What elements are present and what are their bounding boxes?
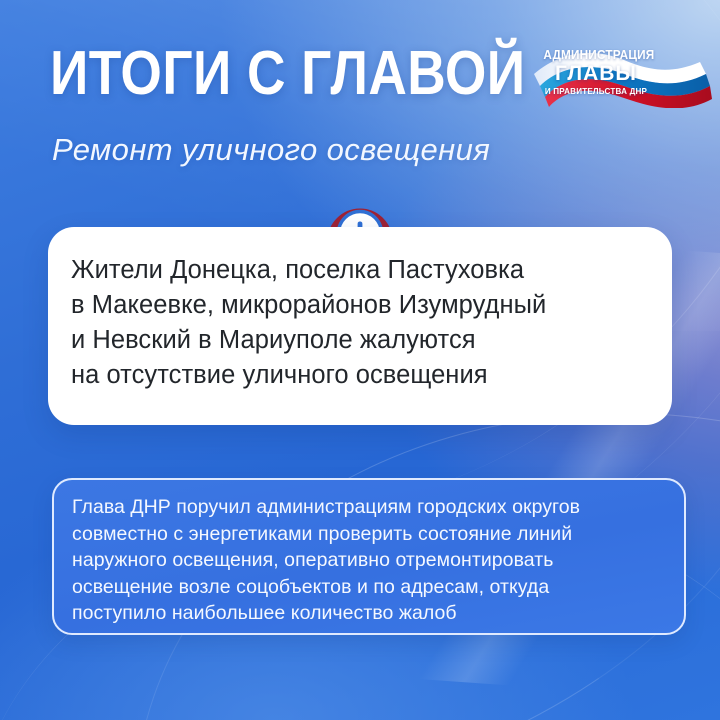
administration-logo: АДМИНИСТРАЦИЯ ГЛАВЫ И ПРАВИТЕЛЬСТВА ДНР xyxy=(528,44,714,108)
poster-canvas: ИТОГИ С ГЛАВОЙ Ремонт уличного освещения xyxy=(0,0,720,720)
problem-statement-card: Жители Донецка, поселка Пастуховка в Мак… xyxy=(48,227,672,425)
page-title: ИТОГИ С ГЛАВОЙ xyxy=(50,43,526,105)
logo-line-government: И ПРАВИТЕЛЬСТВА ДНР xyxy=(543,86,649,96)
problem-statement-text: Жители Донецка, поселка Пастуховка в Мак… xyxy=(71,253,654,393)
action-directive-text: Глава ДНР поручил администрациям городск… xyxy=(72,494,674,627)
page-subtitle: Ремонт уличного освещения xyxy=(52,133,490,167)
logo-wordmark: АДМИНИСТРАЦИЯ ГЛАВЫ И ПРАВИТЕЛЬСТВА ДНР xyxy=(540,48,652,96)
logo-line-head: ГЛАВЫ xyxy=(540,63,652,85)
logo-line-administration: АДМИНИСТРАЦИЯ xyxy=(543,48,648,62)
action-directive-card: Глава ДНР поручил администрациям городск… xyxy=(52,478,686,635)
